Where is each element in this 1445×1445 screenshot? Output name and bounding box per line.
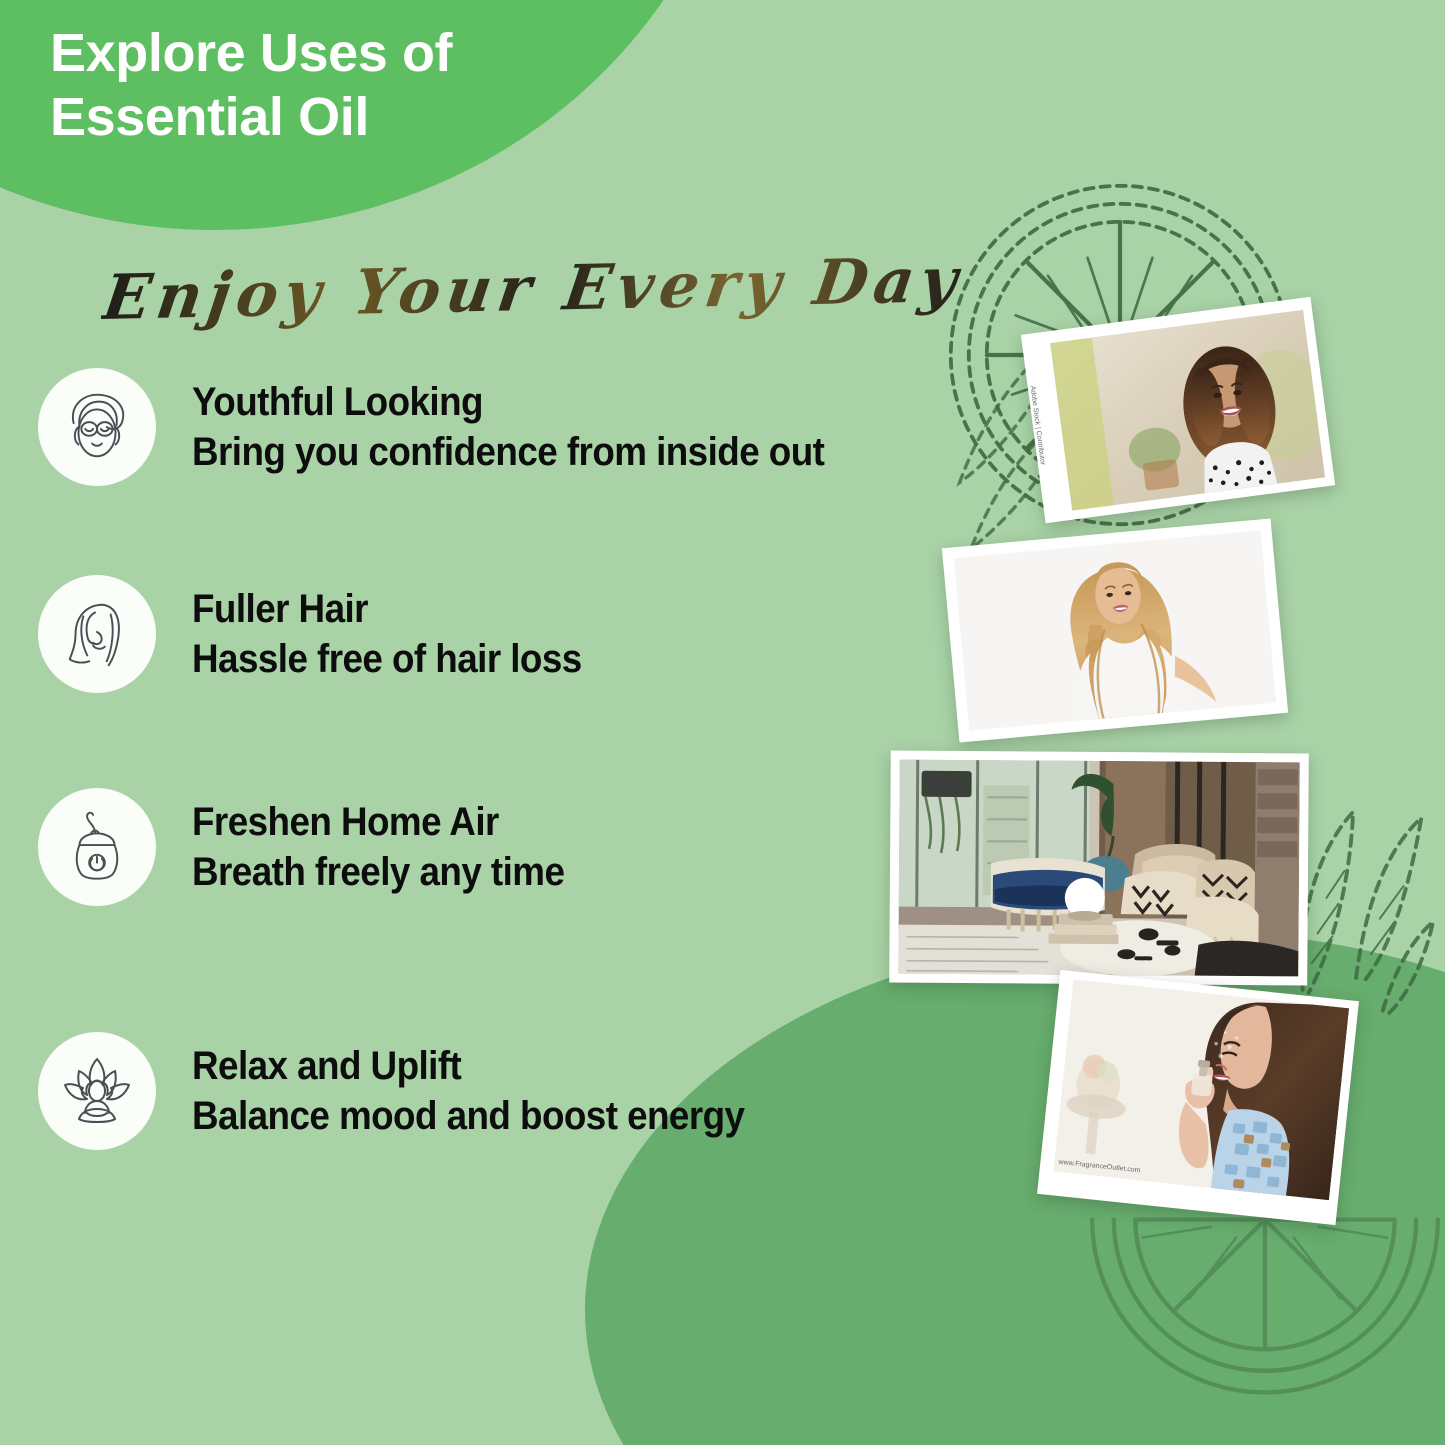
feature-row-fuller-hair: Fuller Hair Hassle free of hair loss <box>38 575 616 693</box>
feature-subtext: Bring you confidence from inside out <box>192 430 824 475</box>
face-mask-icon <box>38 368 156 486</box>
feature-text-block: Youthful Looking Bring you confidence fr… <box>192 380 879 475</box>
feature-heading: Youthful Looking <box>192 380 824 425</box>
long-hair-profile-icon <box>38 575 156 693</box>
feature-subtext: Hassle free of hair loss <box>192 637 582 682</box>
photo-image-area <box>954 530 1276 730</box>
photo-woman-spraying-perfume: www.FragranceOutlet.com <box>1037 970 1359 1225</box>
feature-text-block: Freshen Home Air Breath freely any time <box>192 800 597 895</box>
tagline-script: Enjoy Your Every Day <box>99 243 968 334</box>
feature-text-block: Fuller Hair Hassle free of hair loss <box>192 587 616 682</box>
photo-blonde-wavy-hair <box>942 518 1288 742</box>
feature-subtext: Balance mood and boost energy <box>192 1094 744 1139</box>
photo-watermark: Adobe Stock | Contributor <box>1029 385 1046 465</box>
infographic-canvas: Explore Uses of Essential Oil Enjoy Your… <box>0 0 1445 1445</box>
aroma-diffuser-icon <box>38 788 156 906</box>
feature-text-block: Relax and Uplift Balance mood and boost … <box>192 1044 793 1139</box>
photo-image-area <box>898 760 1299 977</box>
feature-row-freshen-home-air: Freshen Home Air Breath freely any time <box>38 788 597 906</box>
feature-heading: Relax and Uplift <box>192 1044 744 1089</box>
feature-heading: Freshen Home Air <box>192 800 564 845</box>
lotus-meditation-icon <box>38 1032 156 1150</box>
feature-subtext: Breath freely any time <box>192 850 564 895</box>
photo-smiling-woman: Adobe Stock | Contributor <box>1021 297 1335 523</box>
photo-living-room-diffuser <box>889 751 1309 986</box>
feature-row-relax-and-uplift: Relax and Uplift Balance mood and boost … <box>38 1032 793 1150</box>
feature-row-youthful-looking: Youthful Looking Bring you confidence fr… <box>38 368 879 486</box>
photo-image-area <box>1050 310 1325 511</box>
page-title: Explore Uses of Essential Oil <box>50 22 690 149</box>
feature-heading: Fuller Hair <box>192 587 582 632</box>
